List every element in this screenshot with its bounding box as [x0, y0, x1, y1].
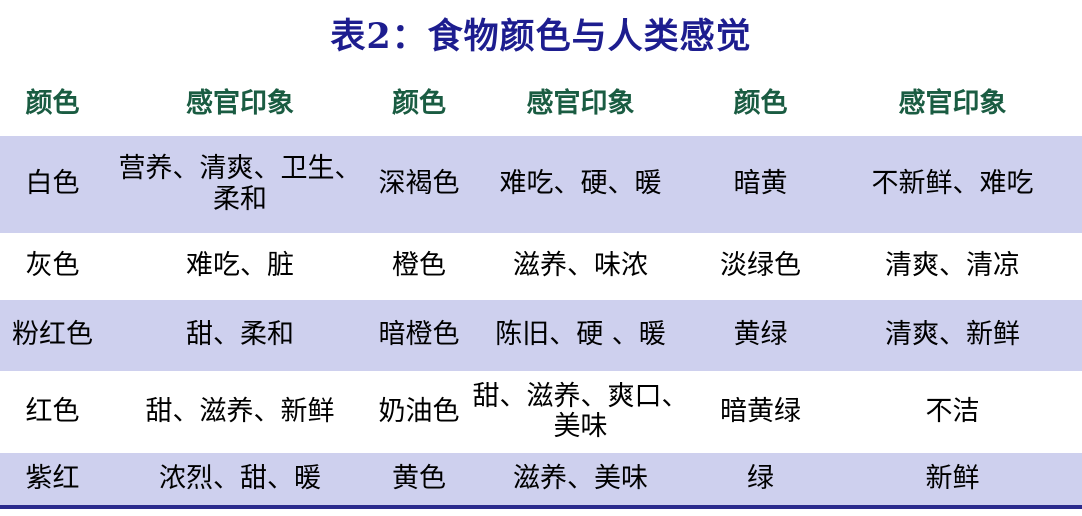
cell-color: 暗黄绿	[698, 371, 823, 453]
column-header-color-3: 颜色	[698, 72, 823, 136]
cell-color: 奶油色	[375, 371, 463, 453]
cell-color: 黄绿	[698, 300, 823, 371]
cell-impression: 甜、柔和	[105, 300, 375, 371]
cell-color: 灰色	[0, 233, 105, 300]
column-header-color-2: 颜色	[375, 72, 463, 136]
cell-impression: 清爽、新鲜	[823, 300, 1082, 371]
cell-impression: 不洁	[823, 371, 1082, 453]
column-header-impression-3: 感官印象	[823, 72, 1082, 136]
column-header-impression-2: 感官印象	[463, 72, 698, 136]
cell-impression: 浓烈、甜、暖	[105, 453, 375, 507]
cell-color: 暗黄	[698, 136, 823, 233]
page-title: 表2：食物颜色与人类感觉	[330, 19, 751, 54]
page-title-container: 表2：食物颜色与人类感觉	[0, 0, 1082, 72]
cell-impression: 难吃、脏	[105, 233, 375, 300]
cell-color: 红色	[0, 371, 105, 453]
cell-impression: 新鲜	[823, 453, 1082, 507]
food-color-sensation-table: 颜色 感官印象 颜色 感官印象 颜色 感官印象 白色 营养、清爽、卫生、柔和 深…	[0, 72, 1082, 509]
table-row: 紫红 浓烈、甜、暖 黄色 滋养、美味 绿 新鲜	[0, 453, 1082, 507]
cell-color: 白色	[0, 136, 105, 233]
table-row: 灰色 难吃、脏 橙色 滋养、味浓 淡绿色 清爽、清凉	[0, 233, 1082, 300]
table-page: 表2：食物颜色与人类感觉 颜色 感官印象 颜色 感官印象 颜色 感官印象 白色	[0, 0, 1082, 516]
cell-color: 橙色	[375, 233, 463, 300]
cell-color: 黄色	[375, 453, 463, 507]
cell-color: 暗橙色	[375, 300, 463, 371]
column-header-impression-1: 感官印象	[105, 72, 375, 136]
cell-impression: 不新鲜、难吃	[823, 136, 1082, 233]
cell-color: 绿	[698, 453, 823, 507]
cell-color: 淡绿色	[698, 233, 823, 300]
cell-impression: 滋养、美味	[463, 453, 698, 507]
cell-impression: 陈旧、硬 、暖	[463, 300, 698, 371]
table-header: 颜色 感官印象 颜色 感官印象 颜色 感官印象	[0, 72, 1082, 136]
cell-impression: 甜、滋养、爽口、美味	[463, 371, 698, 453]
table-row: 白色 营养、清爽、卫生、柔和 深褐色 难吃、硬、暖 暗黄 不新鲜、难吃	[0, 136, 1082, 233]
cell-impression: 清爽、清凉	[823, 233, 1082, 300]
cell-impression: 营养、清爽、卫生、柔和	[105, 136, 375, 233]
cell-impression: 滋养、味浓	[463, 233, 698, 300]
cell-color: 深褐色	[375, 136, 463, 233]
table-body: 白色 营养、清爽、卫生、柔和 深褐色 难吃、硬、暖 暗黄 不新鲜、难吃 灰色 难…	[0, 136, 1082, 507]
header-row: 颜色 感官印象 颜色 感官印象 颜色 感官印象	[0, 72, 1082, 136]
table-row: 红色 甜、滋养、新鲜 奶油色 甜、滋养、爽口、美味 暗黄绿 不洁	[0, 371, 1082, 453]
cell-color: 粉红色	[0, 300, 105, 371]
cell-impression: 甜、滋养、新鲜	[105, 371, 375, 453]
cell-color: 紫红	[0, 453, 105, 507]
cell-impression: 难吃、硬、暖	[463, 136, 698, 233]
column-header-color-1: 颜色	[0, 72, 105, 136]
table-row: 粉红色 甜、柔和 暗橙色 陈旧、硬 、暖 黄绿 清爽、新鲜	[0, 300, 1082, 371]
